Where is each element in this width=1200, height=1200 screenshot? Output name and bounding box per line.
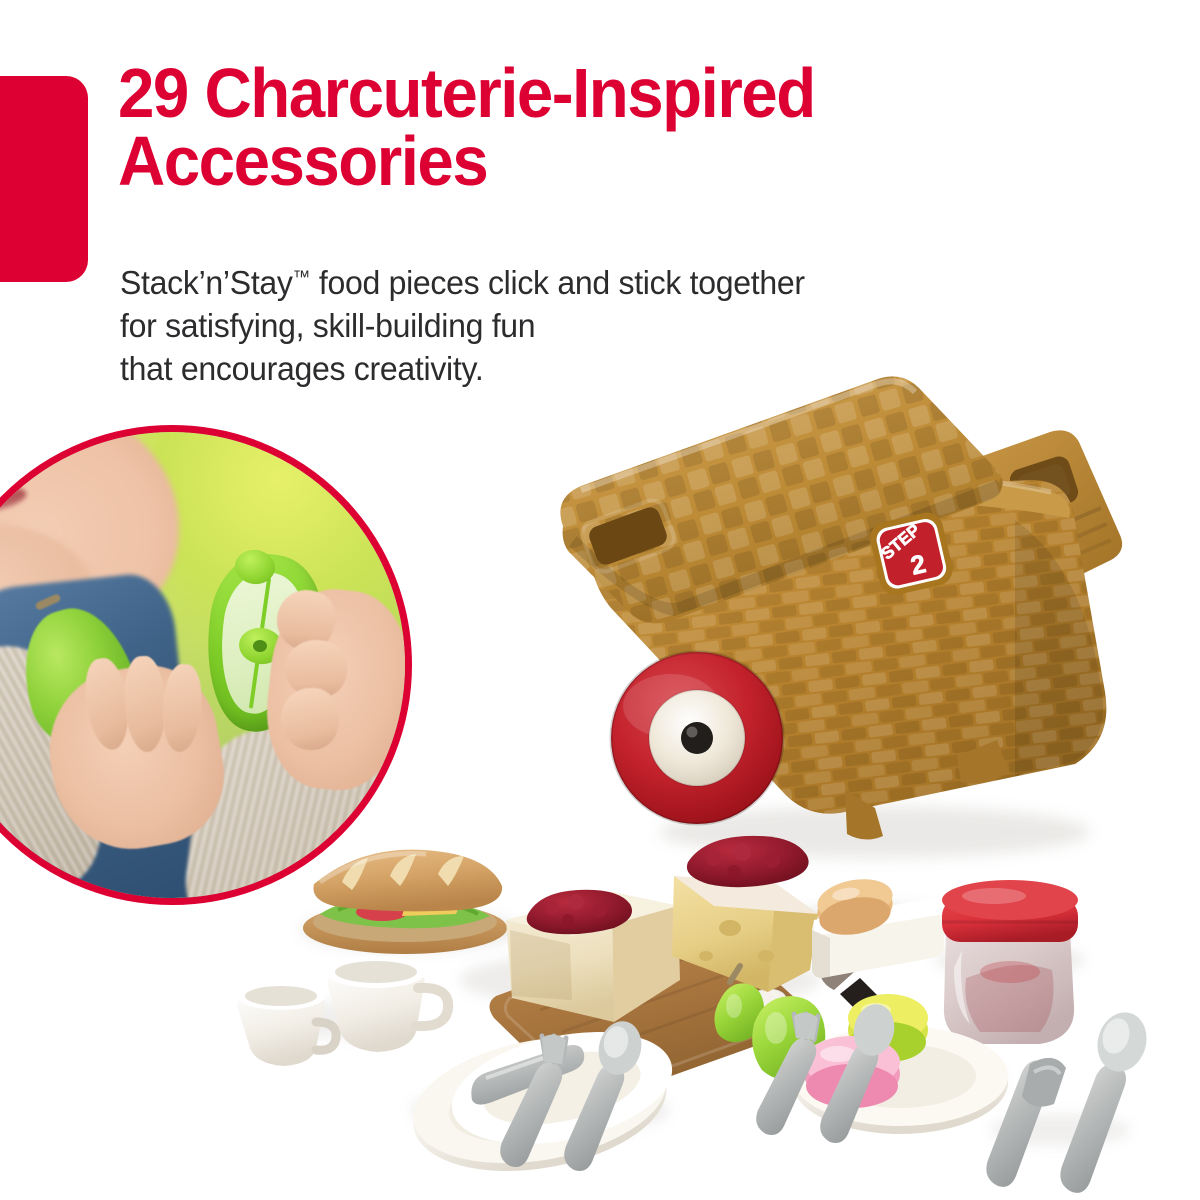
trademark-symbol: ™ — [293, 267, 311, 287]
cart-wheel — [611, 652, 783, 824]
accessories-group — [210, 810, 1200, 1200]
promo-image-canvas: 29 Charcuterie-Inspired Accessories Stac… — [0, 0, 1200, 1200]
teacup-2 — [326, 956, 448, 1052]
subtitle-brand: Stack’n’Stay — [120, 264, 293, 301]
serving-spoon-right — [1060, 1007, 1153, 1193]
jam-jar — [942, 880, 1078, 1044]
baguette-sandwich — [303, 850, 507, 954]
subtitle-line2: for satisfying, skill-building fun — [120, 307, 535, 344]
page-title: 29 Charcuterie-Inspired Accessories — [118, 60, 1090, 196]
picnic-basket-cart: STEP 2 — [545, 320, 1165, 880]
pear-piece-socket — [253, 640, 267, 652]
jam-dollop — [687, 836, 809, 887]
subtitle-line1-rest: food pieces click and stick together — [310, 264, 805, 301]
teacup-1 — [237, 982, 336, 1066]
subtitle-line3: that encourages creativity. — [120, 350, 483, 387]
red-accent-bar — [0, 76, 88, 282]
